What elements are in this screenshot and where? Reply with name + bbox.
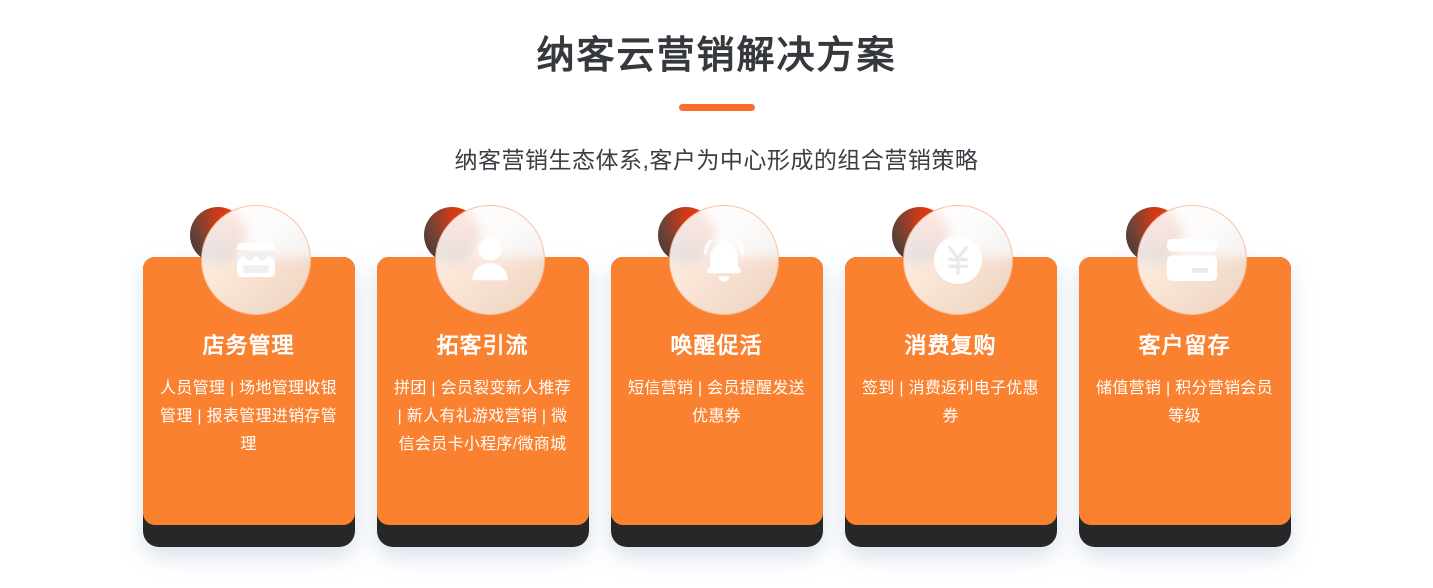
page-title: 纳客云营销解决方案 [0, 34, 1433, 80]
badge-back-circle [658, 207, 714, 263]
card-title: 客户留存 [1079, 257, 1291, 357]
solution-card[interactable]: 客户留存 储值营销 | 积分营销会员等级 [1079, 205, 1291, 525]
page-subtitle: 纳客营销生态体系,客户为中心形成的组合营销策略 [0, 141, 1433, 175]
solution-card[interactable]: 消费复购 签到 | 消费返利电子优惠券 [845, 205, 1057, 525]
card-title: 拓客引流 [377, 257, 589, 357]
page-header: 纳客云营销解决方案 纳客营销生态体系,客户为中心形成的组合营销策略 [0, 0, 1433, 175]
badge-back-circle [1126, 207, 1182, 263]
title-divider [679, 104, 755, 111]
card-body[interactable]: 唤醒促活 短信营销 | 会员提醒发送优惠券 [611, 257, 823, 525]
card-description: 拼团 | 会员裂变新人推荐 | 新人有礼游戏营销 | 微信会员卡小程序/微商城 [377, 357, 589, 459]
solution-card[interactable]: 拓客引流 拼团 | 会员裂变新人推荐 | 新人有礼游戏营销 | 微信会员卡小程序… [377, 205, 589, 525]
card-body[interactable]: 拓客引流 拼团 | 会员裂变新人推荐 | 新人有礼游戏营销 | 微信会员卡小程序… [377, 257, 589, 525]
badge-back-circle [424, 207, 480, 263]
card-description: 签到 | 消费返利电子优惠券 [845, 357, 1057, 431]
badge-back-circle [892, 207, 948, 263]
card-body[interactable]: 消费复购 签到 | 消费返利电子优惠券 [845, 257, 1057, 525]
card-body[interactable]: 店务管理 人员管理 | 场地管理收银管理 | 报表管理进销存管理 [143, 257, 355, 525]
card-body[interactable]: 客户留存 储值营销 | 积分营销会员等级 [1079, 257, 1291, 525]
card-description: 储值营销 | 积分营销会员等级 [1079, 357, 1291, 431]
card-title: 消费复购 [845, 257, 1057, 357]
card-description: 人员管理 | 场地管理收银管理 | 报表管理进销存管理 [143, 357, 355, 459]
card-title: 唤醒促活 [611, 257, 823, 357]
badge-back-circle [190, 207, 246, 263]
solution-cards-row: 店务管理 人员管理 | 场地管理收银管理 | 报表管理进销存管理 拓客引流 拼团… [0, 205, 1433, 525]
card-title: 店务管理 [143, 257, 355, 357]
solution-card[interactable]: 唤醒促活 短信营销 | 会员提醒发送优惠券 [611, 205, 823, 525]
solution-card[interactable]: 店务管理 人员管理 | 场地管理收银管理 | 报表管理进销存管理 [143, 205, 355, 525]
card-description: 短信营销 | 会员提醒发送优惠券 [611, 357, 823, 431]
